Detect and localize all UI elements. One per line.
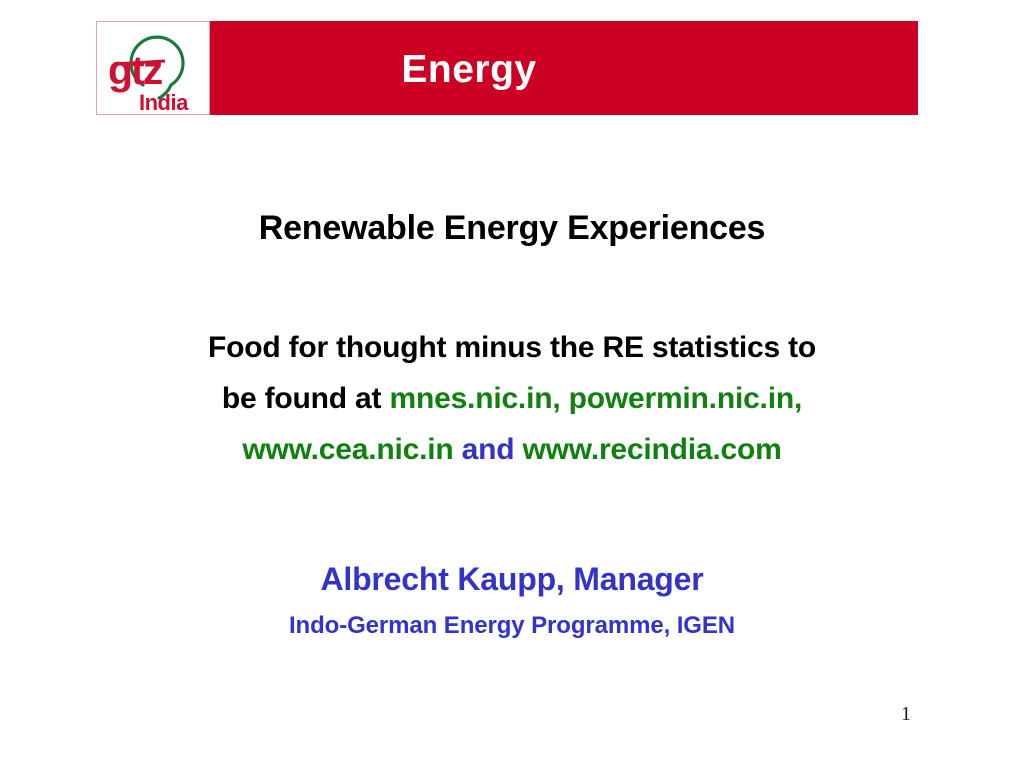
- body-link-text[interactable]: www.recindia.com: [523, 433, 782, 466]
- body-text: Food for thought minus the RE statistics…: [208, 331, 816, 364]
- slide-body-line: Food for thought minus the RE statistics…: [0, 322, 1024, 373]
- slide-body-line: www.cea.nic.in and www.recindia.com: [0, 424, 1024, 475]
- header-tagline: Energy modesty , efficiency and conserva…: [0, 96, 1024, 110]
- body-text: and: [454, 433, 523, 466]
- body-text: be found at: [222, 382, 390, 415]
- body-link-text[interactable]: www.cea.nic.in: [242, 433, 453, 466]
- presenter-name: Albrecht Kaupp, Manager: [0, 561, 1024, 598]
- presenter-organization: Indo-German Energy Programme, IGEN: [0, 612, 1024, 640]
- gtz-wordmark: gtz: [108, 47, 163, 93]
- page-title: Renewable Energy Experiences: [0, 209, 1024, 248]
- body-link-text[interactable]: mnes.nic.in, powermin.nic.in,: [389, 382, 802, 415]
- slide-body-line: be found at mnes.nic.in, powermin.nic.in…: [0, 373, 1024, 424]
- page-number: 1: [901, 703, 941, 726]
- energy-banner-title: Energy: [401, 50, 536, 89]
- slide-body: Food for thought minus the RE statistics…: [0, 322, 1024, 475]
